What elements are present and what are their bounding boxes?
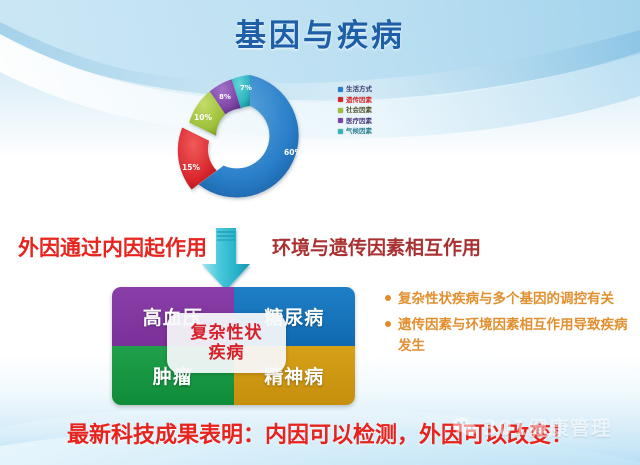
legend-swatch-icon bbox=[338, 108, 343, 113]
legend-label: 社会因素 bbox=[346, 107, 372, 114]
legend-label: 医疗因素 bbox=[346, 118, 372, 125]
legend-label: 遗传因素 bbox=[346, 97, 372, 104]
slide-canvas: 基因与疾病 bbox=[0, 0, 640, 465]
legend-item-medical[interactable]: 医疗因素 bbox=[338, 118, 372, 125]
bullet-text: 遗传因素与环境因素相互作用导致疾病发生 bbox=[398, 315, 635, 356]
gene-environment-interaction-text: 环境与遗传因素相互作用 bbox=[272, 233, 481, 260]
legend-item-social[interactable]: 社会因素 bbox=[338, 107, 372, 114]
legend-item-climate[interactable]: 气候因素 bbox=[338, 128, 372, 135]
legend-swatch-icon bbox=[338, 87, 343, 92]
down-arrow-icon bbox=[198, 226, 254, 292]
legend-swatch-icon bbox=[338, 118, 343, 123]
donut-slices bbox=[178, 75, 299, 198]
callout-line-2: 疾病 bbox=[209, 345, 245, 362]
legend-label: 气候因素 bbox=[346, 128, 372, 135]
data-label-genetic: 15% bbox=[182, 163, 200, 172]
callout-line-1: 复杂性状 bbox=[191, 325, 263, 342]
legend-label: 生活方式 bbox=[346, 86, 372, 93]
data-label-medical: 8% bbox=[219, 93, 231, 101]
bottom-banner-text: 最新科技成果表明：内因可以检测，外因可以改变！ bbox=[0, 417, 640, 449]
legend-swatch-icon bbox=[338, 129, 343, 134]
donut-chart: 60% 15% 10% 8% 7% 生活方式 遗传因素 社会因素 bbox=[160, 62, 400, 212]
data-label-climate: 7% bbox=[240, 84, 252, 92]
page-title: 基因与疾病 bbox=[0, 10, 640, 55]
data-label-lifestyle: 60% bbox=[284, 148, 302, 157]
bullet-dot-icon bbox=[385, 295, 391, 301]
list-item: 遗传因素与环境因素相互作用导致疾病发生 bbox=[385, 315, 635, 356]
bullet-dot-icon bbox=[385, 321, 391, 327]
data-label-social: 10% bbox=[194, 113, 212, 122]
bullet-list: 复杂性状疾病与多个基因的调控有关 遗传因素与环境因素相互作用导致疾病发生 bbox=[385, 289, 635, 362]
legend-item-genetic[interactable]: 遗传因素 bbox=[338, 97, 372, 104]
bullet-text: 复杂性状疾病与多个基因的调控有关 bbox=[398, 289, 614, 309]
legend-item-lifestyle[interactable]: 生活方式 bbox=[338, 86, 372, 93]
chart-legend: 生活方式 遗传因素 社会因素 医疗因素 气候因素 bbox=[338, 86, 372, 135]
legend-swatch-icon bbox=[338, 97, 343, 102]
list-item: 复杂性状疾病与多个基因的调控有关 bbox=[385, 289, 635, 309]
external-cause-text: 外因通过内因起作用 bbox=[18, 232, 207, 262]
complex-trait-disease-callout: 复杂性状 疾病 bbox=[167, 313, 286, 373]
